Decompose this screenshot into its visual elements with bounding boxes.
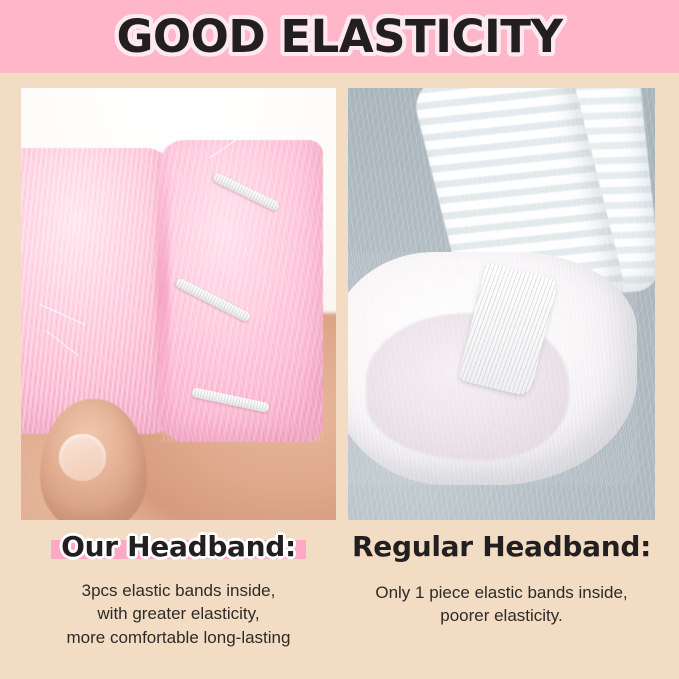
description-line: Only 1 piece elastic bands inside, <box>348 581 655 604</box>
fabric-seam <box>156 144 169 438</box>
description-line: poorer elasticity. <box>348 604 655 627</box>
header-banner: GOOD ELASTICITY <box>0 0 679 73</box>
description-line: with greater elasticity, <box>21 602 336 625</box>
description-line: more comfortable long-lasting <box>21 626 336 649</box>
fur-texture <box>21 148 172 433</box>
regular-headband-photo <box>348 88 655 520</box>
our-headband-description: 3pcs elastic bands inside, with greater … <box>21 579 336 649</box>
infographic-page: GOOD ELASTICITY <box>0 0 679 679</box>
our-headband-heading-wrap: Our Headband: <box>61 530 296 563</box>
regular-headband-description: Only 1 piece elastic bands inside, poore… <box>348 581 655 628</box>
overall-fur-texture <box>348 88 655 520</box>
thumbnail-shape <box>59 434 106 482</box>
our-headband-caption: Our Headband: 3pcs elastic bands inside,… <box>21 530 336 649</box>
our-headband-photo <box>21 88 336 520</box>
description-line: 3pcs elastic bands inside, <box>21 579 336 602</box>
headband-fluffy-section <box>21 148 172 433</box>
page-title: GOOD ELASTICITY <box>116 14 562 59</box>
regular-headband-heading: Regular Headband: <box>348 530 655 563</box>
our-headband-heading: Our Headband: <box>61 530 296 563</box>
regular-headband-caption: Regular Headband: Only 1 piece elastic b… <box>348 530 655 628</box>
